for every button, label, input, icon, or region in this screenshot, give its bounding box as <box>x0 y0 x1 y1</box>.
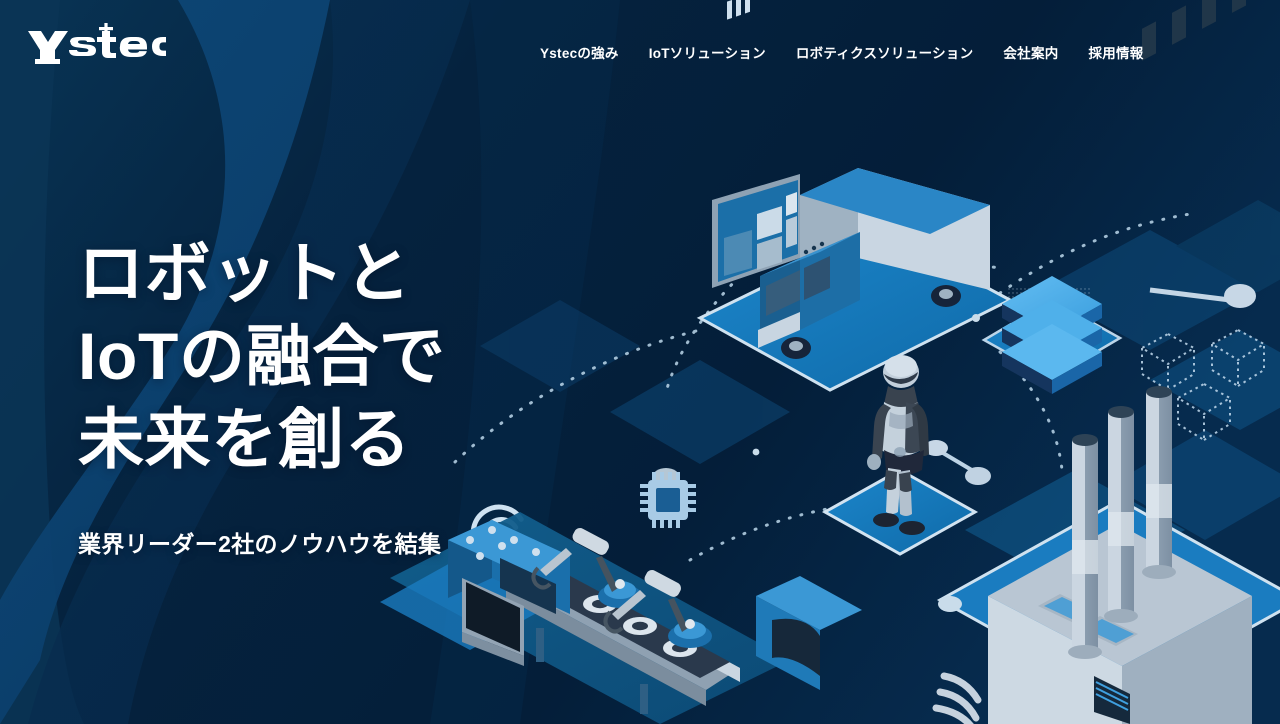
nav-company[interactable]: 会社案内 <box>1003 38 1058 66</box>
site-header: Ystecの強み IoTソリューション ロボティクスソリューション 会社案内 採… <box>0 0 1280 96</box>
conveyor-line <box>380 512 862 724</box>
smokestack <box>1068 434 1102 659</box>
smokestack <box>1142 386 1176 579</box>
hero-page: Ystecの強み IoTソリューション ロボティクスソリューション 会社案内 採… <box>0 0 1280 724</box>
brand-logo[interactable] <box>26 24 166 66</box>
hero-line-3: 未来を創る <box>78 398 446 481</box>
hero-line-2: IoTの融合で <box>78 315 446 398</box>
nav-recruit[interactable]: 採用情報 <box>1089 38 1144 66</box>
cpu-chip-icon <box>640 472 696 528</box>
nav-iot-solutions[interactable]: IoTソリューション <box>649 38 766 66</box>
ystec-logo-icon <box>26 23 166 67</box>
hero-headline: ロボットと IoTの融合で 未来を創る <box>78 232 446 481</box>
hero-subtitle: 業界リーダー2社のノウハウを結集 <box>78 525 446 559</box>
primary-navigation[interactable]: Ystecの強み IoTソリューション ロボティクスソリューション 会社案内 採… <box>540 38 1144 66</box>
smokestack <box>1104 406 1138 623</box>
hero-copy: ロボットと IoTの融合で 未来を創る 業界リーダー2社のノウハウを結集 <box>78 232 446 559</box>
nav-robotics-solutions[interactable]: ロボティクスソリューション <box>796 38 974 66</box>
hero-line-1: ロボットと <box>78 232 446 315</box>
nav-strengths[interactable]: Ystecの強み <box>540 38 619 66</box>
